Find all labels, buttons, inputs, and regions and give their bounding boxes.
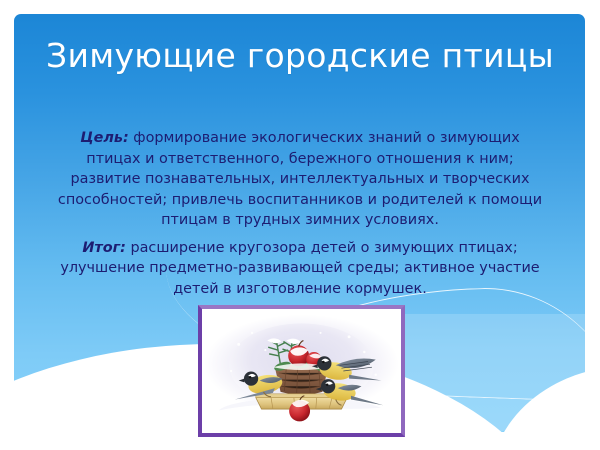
bird-feeder-illustration [205, 312, 398, 430]
slide-body-text: Цель: формирование экологических знаний … [52, 128, 548, 304]
result-text: расширение кругозора детей о зимующих пт… [60, 240, 539, 297]
result-label: Итог: [82, 240, 126, 256]
presentation-slide: Зимующие городские птицы Цель: формирова… [0, 0, 600, 450]
result-paragraph: Итог: расширение кругозора детей о зимую… [52, 238, 548, 300]
picture-frame [198, 305, 405, 437]
slide-title: Зимующие городские птицы [40, 36, 560, 76]
goal-label: Цель: [80, 130, 129, 146]
bird-feeder-icon [205, 312, 398, 430]
goal-paragraph: Цель: формирование экологических знаний … [52, 128, 548, 231]
goal-text: формирование экологических знаний о зиму… [58, 130, 542, 228]
